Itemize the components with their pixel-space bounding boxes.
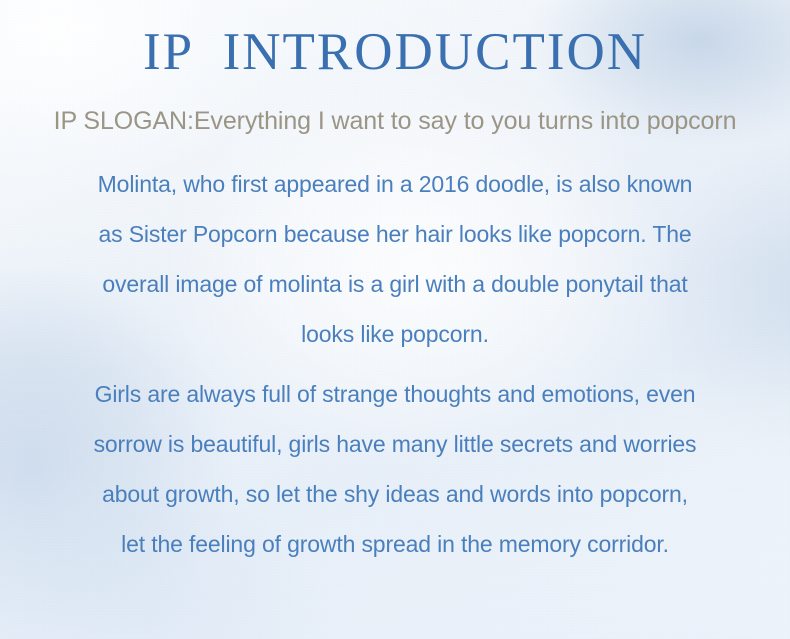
intro-paragraph-one: Molinta, who first appeared in a 2016 do…: [0, 136, 790, 359]
paragraph-line: about growth, so let the shy ideas and w…: [0, 469, 790, 519]
ip-introduction-page: IP INTRODUCTION IP SLOGAN:Everything I w…: [0, 0, 790, 639]
paragraph-line: Molinta, who first appeared in a 2016 do…: [0, 159, 790, 209]
ip-slogan: IP SLOGAN:Everything I want to say to yo…: [0, 81, 790, 136]
paragraph-line: as Sister Popcorn because her hair looks…: [0, 209, 790, 259]
page-title: IP INTRODUCTION: [0, 0, 790, 81]
paragraph-line: overall image of molinta is a girl with …: [0, 259, 790, 309]
intro-paragraph-two: Girls are always full of strange thought…: [0, 369, 790, 569]
paragraph-line: Girls are always full of strange thought…: [0, 369, 790, 419]
content-area: IP INTRODUCTION IP SLOGAN:Everything I w…: [0, 0, 790, 639]
paragraph-spacer: [0, 359, 790, 369]
paragraph-line: looks like popcorn.: [0, 309, 790, 359]
paragraph-line: let the feeling of growth spread in the …: [0, 519, 790, 569]
paragraph-line: sorrow is beautiful, girls have many lit…: [0, 419, 790, 469]
